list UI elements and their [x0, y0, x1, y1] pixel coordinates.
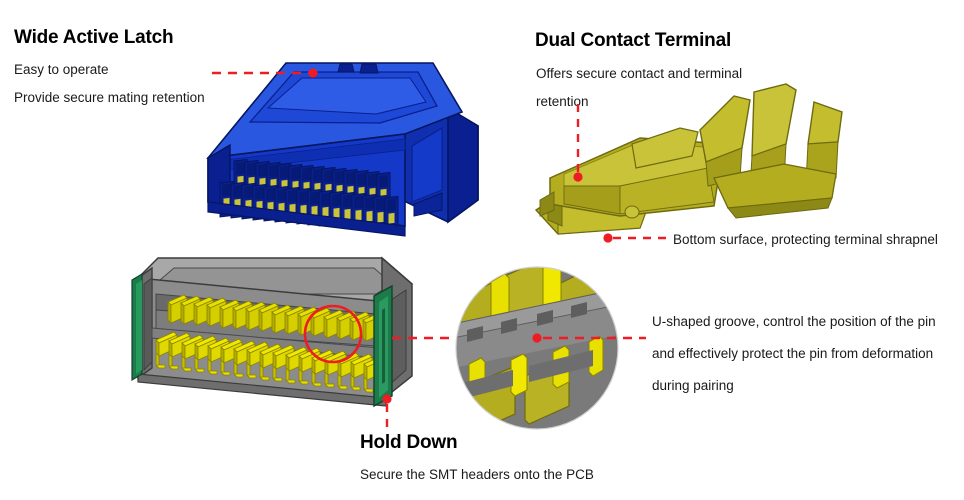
- leader-dot-bottom-surface: [603, 233, 612, 242]
- diagram-canvas: Wide Active Latch Easy to operate Provid…: [0, 0, 964, 500]
- leader-dot-wide-active-latch: [308, 68, 317, 77]
- detail-region-circle: [305, 306, 361, 362]
- leader-lines-layer: [0, 0, 964, 500]
- leader-dot-u-groove: [532, 333, 541, 342]
- leader-dot-hold-down: [382, 394, 391, 403]
- leader-dot-dual-contact-terminal: [573, 172, 582, 181]
